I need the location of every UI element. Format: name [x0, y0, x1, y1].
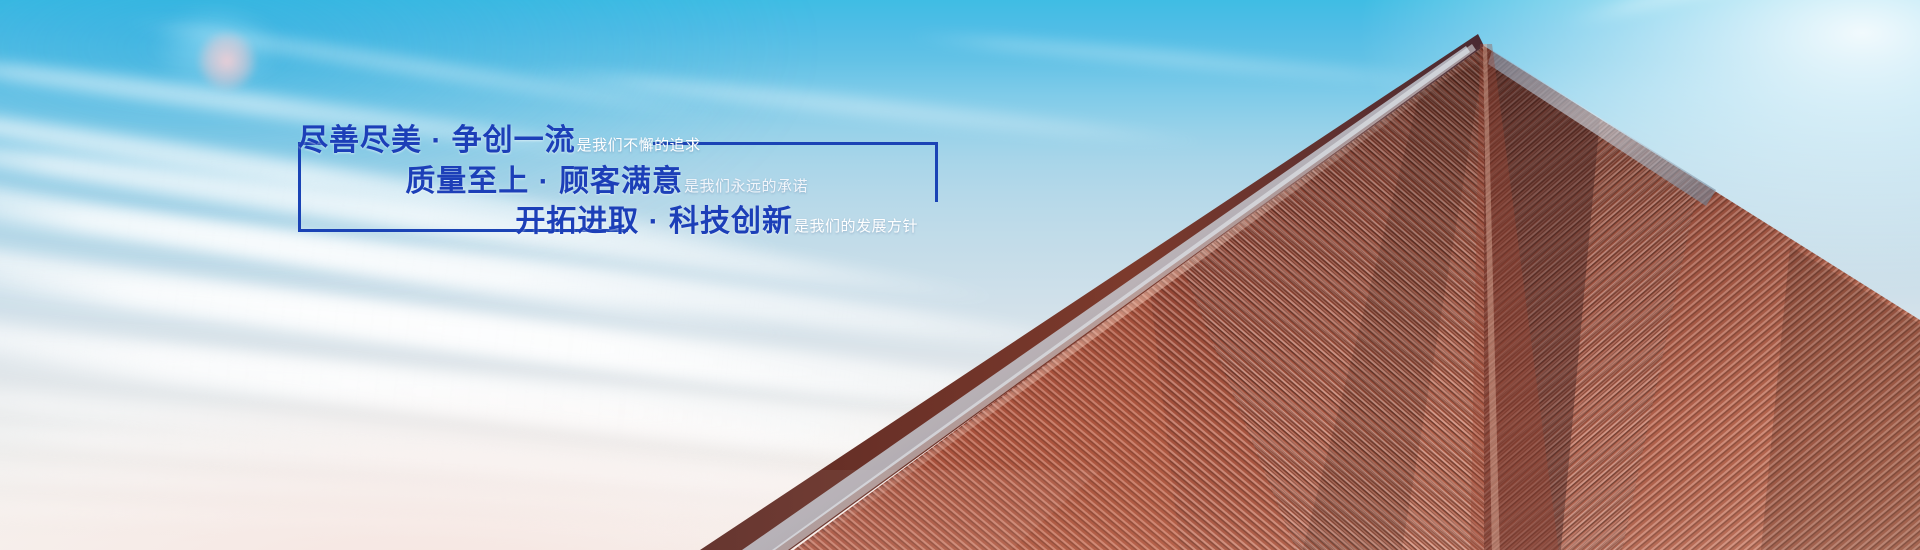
slogan-line-1-main: 尽善尽美 · 争创一流 [298, 124, 576, 157]
slogan-line-3: 开拓进取 · 科技创新是我们的发展方针 [298, 207, 958, 237]
hero-banner: 尽善尽美 · 争创一流是我们不懈的追求 质量至上 · 顾客满意是我们永远的承诺 … [0, 0, 1920, 550]
lens-flare-icon [196, 30, 258, 92]
slogan-line-2: 质量至上 · 顾客满意是我们永远的承诺 [298, 167, 958, 197]
slogan-line-2-sub: 是我们永远的承诺 [684, 178, 808, 195]
slogan-line-2-main: 质量至上 · 顾客满意 [405, 165, 683, 198]
slogan-line-3-main: 开拓进取 · 科技创新 [515, 205, 793, 238]
slogan-group: 尽善尽美 · 争创一流是我们不懈的追求 质量至上 · 顾客满意是我们永远的承诺 … [298, 126, 958, 237]
slogan-line-3-sub: 是我们的发展方针 [794, 218, 918, 235]
slogan-line-1-sub: 是我们不懈的追求 [577, 137, 701, 154]
slogan-line-1: 尽善尽美 · 争创一流是我们不懈的追求 [298, 126, 958, 156]
sky-warm-haze [0, 0, 1920, 550]
